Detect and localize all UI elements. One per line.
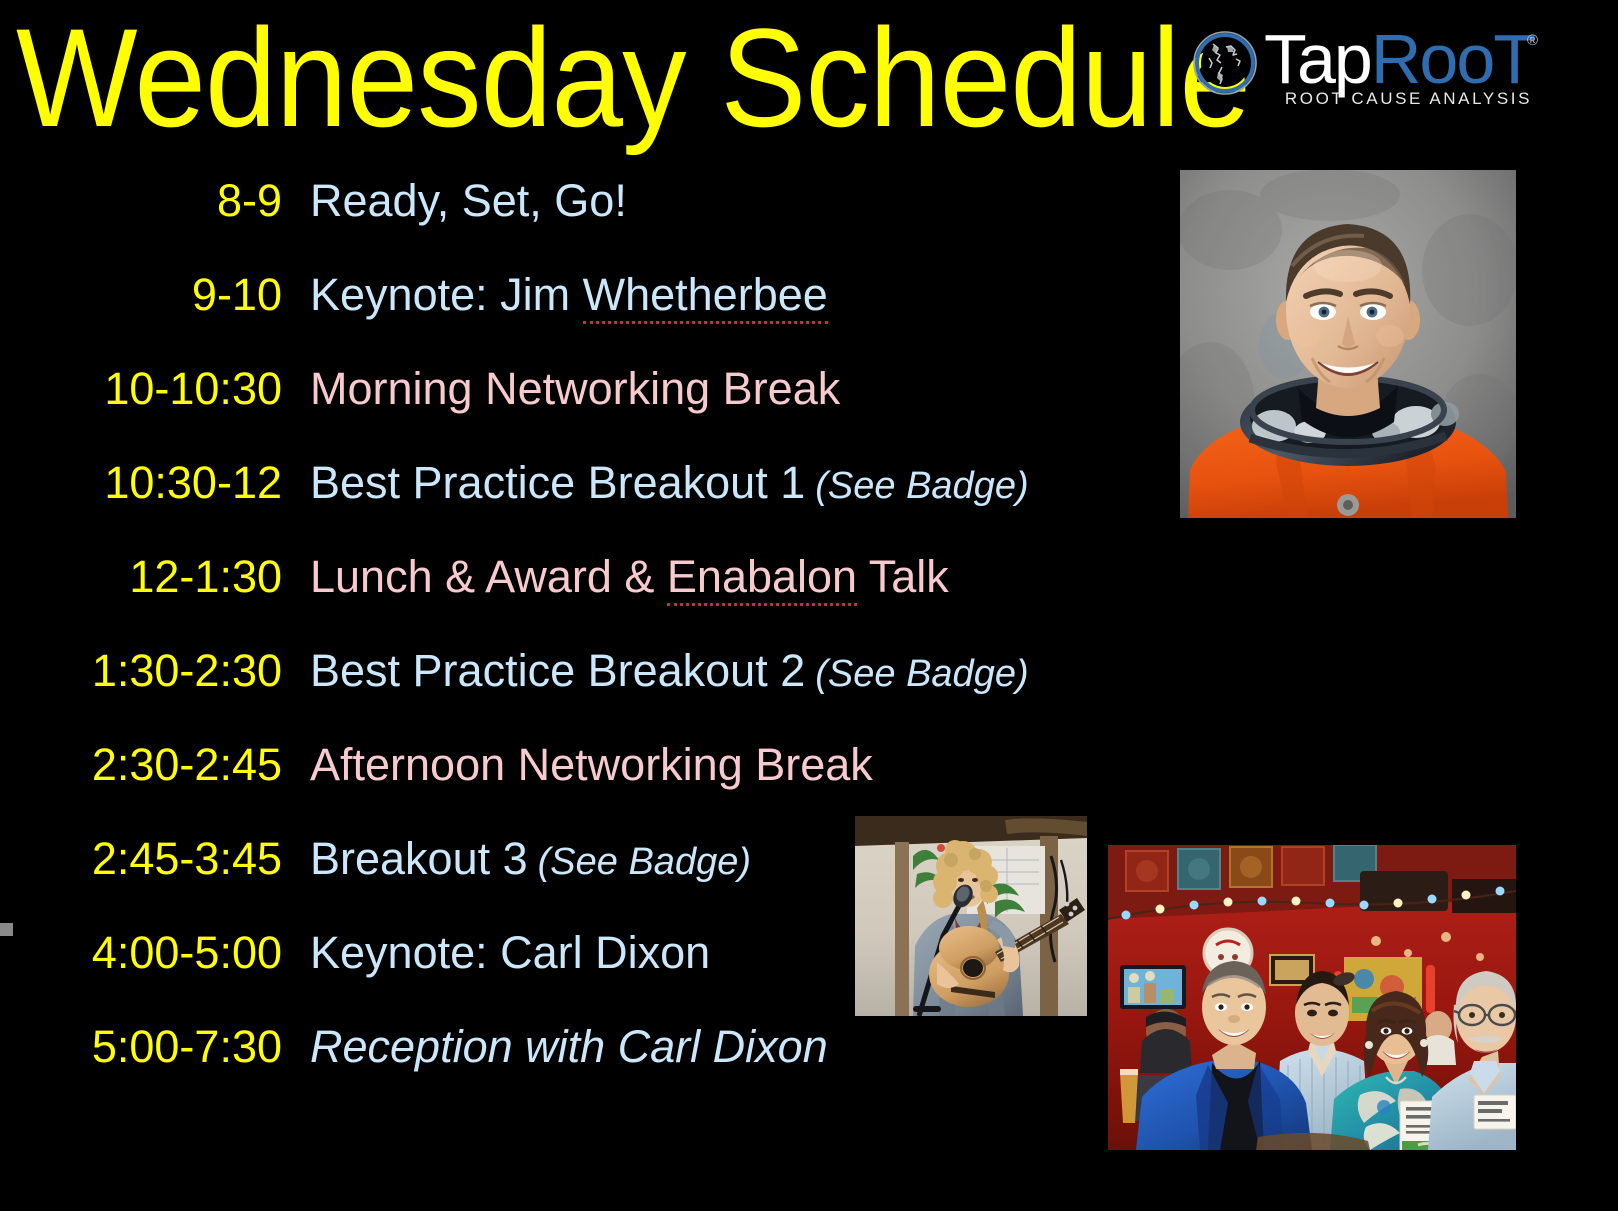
schedule-description: Best Practice Breakout 1(See Badge) <box>310 454 1029 515</box>
page-title: Wednesday Schedule <box>16 8 1250 148</box>
schedule-description: Breakout 3(See Badge) <box>310 830 751 891</box>
schedule-time: 8-9 <box>0 172 282 230</box>
schedule-note: (See Badge) <box>815 653 1028 695</box>
photo-group <box>1108 845 1516 1150</box>
schedule-description: Ready, Set, Go! <box>310 172 627 230</box>
schedule-row: 10-10:30Morning Networking Break <box>0 360 1180 454</box>
logo-text-tap: Tap <box>1264 20 1371 98</box>
logo-wordmark: TapRooT ® <box>1264 26 1534 93</box>
schedule-description: Keynote: Carl Dixon <box>310 924 710 982</box>
slide-canvas: Wednesday Schedule <box>0 0 1618 1211</box>
logo-wordmark-wrap: TapRooT ® ROOT CAUSE ANALYSIS <box>1264 26 1534 109</box>
schedule-row: 12-1:30Lunch & Award & Enabalon Talk <box>0 548 1180 642</box>
taproot-logo: TapRooT ® ROOT CAUSE ANALYSIS <box>1192 26 1532 128</box>
slide-edge-handle[interactable] <box>0 923 13 936</box>
schedule-time: 12-1:30 <box>0 548 282 606</box>
schedule-time: 1:30-2:30 <box>0 642 282 700</box>
photo-astronaut <box>1180 170 1516 518</box>
schedule-description: Keynote: Jim Whetherbee <box>310 266 828 324</box>
schedule-time: 10-10:30 <box>0 360 282 418</box>
schedule-row: 8-9Ready, Set, Go! <box>0 172 1180 266</box>
registered-mark-icon: ® <box>1527 34 1536 48</box>
logo-tagline: ROOT CAUSE ANALYSIS <box>1264 89 1534 109</box>
schedule-description: Afternoon Networking Break <box>310 736 873 794</box>
spellcheck-underlined-word: Enabalon <box>667 551 857 606</box>
schedule-time: 10:30-12 <box>0 454 282 512</box>
schedule-description: Best Practice Breakout 2(See Badge) <box>310 642 1029 703</box>
schedule-row: 10:30-12Best Practice Breakout 1(See Bad… <box>0 454 1180 548</box>
schedule-description: Morning Networking Break <box>310 360 840 418</box>
schedule-time: 2:30-2:45 <box>0 736 282 794</box>
schedule-row: 5:00-7:30Reception with Carl Dixon <box>0 1018 1180 1112</box>
schedule-time: 9-10 <box>0 266 282 324</box>
photo-guitarist <box>855 816 1087 1016</box>
schedule-row: 1:30-2:30Best Practice Breakout 2(See Ba… <box>0 642 1180 736</box>
logo-text-root: RooT <box>1371 20 1534 98</box>
schedule-time: 4:00-5:00 <box>0 924 282 982</box>
schedule-description: Reception with Carl Dixon <box>310 1018 828 1076</box>
schedule-note: (See Badge) <box>538 841 751 883</box>
schedule-row: 9-10Keynote: Jim Whetherbee <box>0 266 1180 360</box>
schedule-note: (See Badge) <box>815 465 1028 507</box>
globe-icon <box>1192 30 1258 96</box>
schedule-description: Lunch & Award & Enabalon Talk <box>310 548 949 606</box>
schedule-time: 2:45-3:45 <box>0 830 282 888</box>
schedule-time: 5:00-7:30 <box>0 1018 282 1076</box>
spellcheck-underlined-word: Whetherbee <box>583 269 828 324</box>
